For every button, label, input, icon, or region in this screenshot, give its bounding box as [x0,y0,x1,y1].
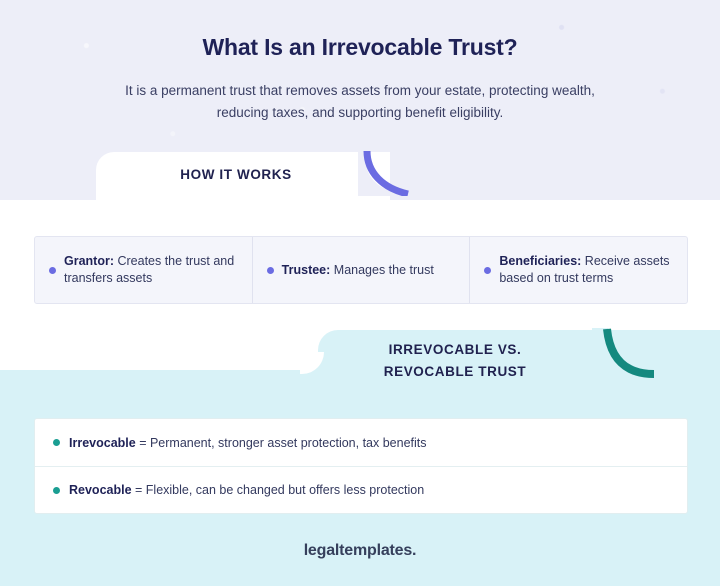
role-description: Manages the trust [330,263,434,277]
bullet-dot-icon [484,267,491,274]
role-card-trustee: Trustee: Manages the trust [252,237,470,303]
comparison-label-line1: IRREVOCABLE VS. [330,339,580,361]
hero-section [0,0,720,152]
comparison-label-line2: REVOCABLE TRUST [330,361,580,383]
role-term: Beneficiaries: [499,254,581,268]
comparison-description: = Permanent, stronger asset protection, … [136,436,427,450]
role-card-text: Trustee: Manages the trust [282,262,434,279]
comparison-table: Irrevocable = Permanent, stronger asset … [34,418,688,514]
comparison-description: = Flexible, can be changed but offers le… [132,483,425,497]
bullet-dot-icon [267,267,274,274]
hero-texture [0,0,720,152]
infographic-root: What Is an Irrevocable Trust? It is a pe… [0,0,720,586]
role-card-beneficiaries: Beneficiaries: Receive assets based on t… [469,237,687,303]
hero-fill-left [0,152,96,200]
role-card-grantor: Grantor: Creates the trust and transfers… [35,237,252,303]
purple-swoosh-icon [358,150,416,196]
page-title: What Is an Irrevocable Trust? [0,34,720,61]
comparison-row-text: Revocable = Flexible, can be changed but… [69,483,424,497]
hero-fill-right [390,152,720,200]
comparison-term: Revocable [69,483,132,497]
role-term: Trustee: [282,263,331,277]
comparison-row-text: Irrevocable = Permanent, stronger asset … [69,436,427,450]
comparison-term: Irrevocable [69,436,136,450]
comparison-step-corner [300,352,324,374]
role-card-text: Beneficiaries: Receive assets based on t… [499,253,673,287]
role-term: Grantor: [64,254,114,268]
role-card-text: Grantor: Creates the trust and transfers… [64,253,238,287]
comparison-label: IRREVOCABLE VS. REVOCABLE TRUST [330,339,580,383]
comparison-row-irrevocable: Irrevocable = Permanent, stronger asset … [35,419,687,466]
bullet-dot-icon [49,267,56,274]
brand-logo: legaltemplates. [0,542,720,560]
roles-card-panel: Grantor: Creates the trust and transfers… [34,236,688,304]
bullet-dot-icon [53,487,60,494]
bullet-dot-icon [53,439,60,446]
tab-corner-left [90,152,116,182]
how-it-works-label: HOW IT WORKS [120,167,352,182]
teal-swoosh-icon [592,328,664,378]
hero-subtitle: It is a permanent trust that removes ass… [110,80,610,124]
comparison-row-revocable: Revocable = Flexible, can be changed but… [35,466,687,513]
